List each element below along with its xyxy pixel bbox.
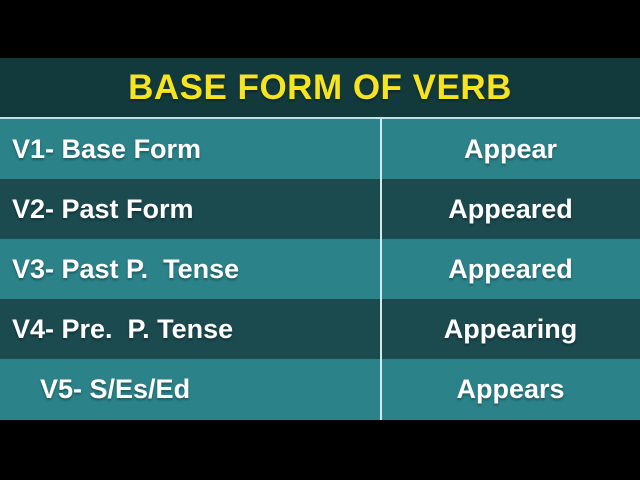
page-title: BASE FORM OF VERB bbox=[128, 70, 512, 105]
verb-word-cell: Appeared bbox=[381, 256, 640, 283]
verb-word-cell: Appearing bbox=[381, 316, 640, 343]
verb-form-label: V2- Past Form bbox=[12, 196, 194, 223]
verb-form-label: V3- Past P. Tense bbox=[12, 256, 239, 283]
letterbox-top-bar bbox=[0, 0, 640, 58]
verb-word-label: Appears bbox=[456, 376, 564, 403]
table-row: V2- Past Form Appeared bbox=[0, 179, 640, 239]
table-row: V1- Base Form Appear bbox=[0, 119, 640, 179]
verb-word-label: Appeared bbox=[448, 196, 573, 223]
verb-form-cell: V4- Pre. P. Tense bbox=[0, 316, 381, 343]
table-row: V5- S/Es/Ed Appears bbox=[0, 359, 640, 420]
table-row: V4- Pre. P. Tense Appearing bbox=[0, 299, 640, 359]
title-band: BASE FORM OF VERB bbox=[0, 58, 640, 117]
verb-word-label: Appear bbox=[464, 136, 557, 163]
letterbox-bottom-bar bbox=[0, 420, 640, 480]
verb-word-cell: Appear bbox=[381, 136, 640, 163]
verb-forms-card: BASE FORM OF VERB V1- Base Form Appear V… bbox=[0, 58, 640, 420]
verb-forms-slide: BASE FORM OF VERB V1- Base Form Appear V… bbox=[0, 0, 640, 480]
verb-form-label: V4- Pre. P. Tense bbox=[12, 316, 233, 343]
verb-word-cell: Appeared bbox=[381, 196, 640, 223]
verb-form-cell: V5- S/Es/Ed bbox=[0, 376, 381, 403]
header-divider bbox=[0, 117, 640, 119]
verb-form-cell: V1- Base Form bbox=[0, 136, 381, 163]
verb-word-label: Appeared bbox=[448, 256, 573, 283]
column-divider bbox=[380, 119, 382, 420]
verb-word-cell: Appears bbox=[381, 376, 640, 403]
verb-forms-table: V1- Base Form Appear V2- Past Form Appea… bbox=[0, 119, 640, 420]
verb-word-label: Appearing bbox=[444, 316, 578, 343]
verb-form-label: V5- S/Es/Ed bbox=[40, 376, 190, 403]
verb-form-cell: V2- Past Form bbox=[0, 196, 381, 223]
verb-form-cell: V3- Past P. Tense bbox=[0, 256, 381, 283]
verb-form-label: V1- Base Form bbox=[12, 136, 201, 163]
table-row: V3- Past P. Tense Appeared bbox=[0, 239, 640, 299]
